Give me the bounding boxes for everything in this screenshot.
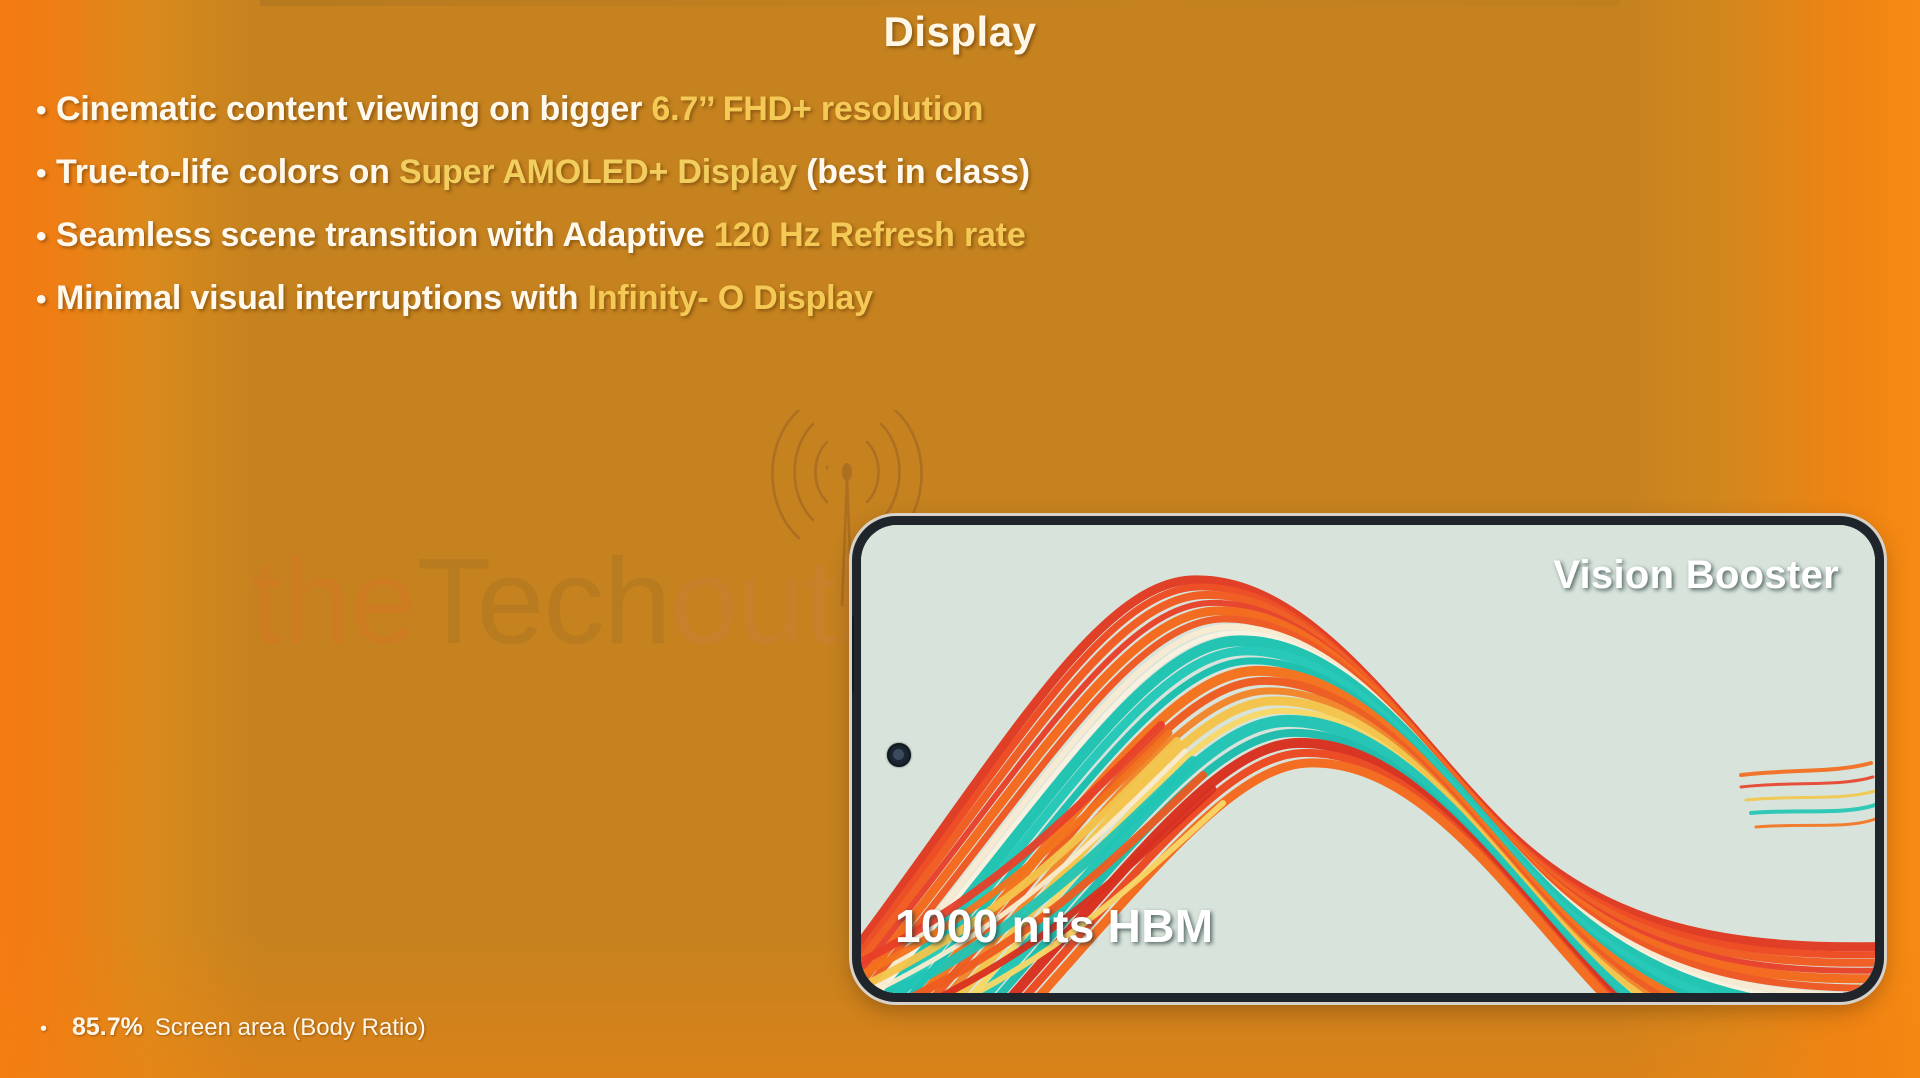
footnote-label: Screen area (Body Ratio) <box>155 1014 426 1042</box>
page-title: Display <box>0 8 1920 56</box>
bullet-highlight-text: 6.7’’ FHD+ resolution <box>651 90 983 128</box>
screen-body-ratio-note: • 85.7% Screen area (Body Ratio) <box>40 1013 426 1042</box>
bullet-lead-text: Minimal visual interruptions with <box>56 279 588 317</box>
label-vision-booster: Vision Booster <box>1553 553 1839 598</box>
bullet-highlight-text: Super AMOLED+ Display <box>399 153 797 191</box>
bullet-marker: • <box>36 222 56 252</box>
bullet-item-panel-type: • True-to-life colors on Super AMOLED+ D… <box>36 155 1336 189</box>
bullet-item-refresh-rate: • Seamless scene transition with Adaptiv… <box>36 218 1336 252</box>
bullet-lead-text: Seamless scene transition with Adaptive <box>56 216 714 254</box>
bullet-marker: • <box>36 96 56 126</box>
bullet-list: • Cinematic content viewing on bigger 6.… <box>36 92 1336 344</box>
bullet-marker: • <box>36 159 56 189</box>
bullet-tail-text: (best in class) <box>797 153 1030 191</box>
bullet-lead-text: True-to-life colors on <box>56 153 399 191</box>
phone-mockup: Vision Booster 1000 nits HBM <box>852 516 1884 1002</box>
bullet-highlight-text: Infinity- O Display <box>588 279 873 317</box>
bullet-item-display-size: • Cinematic content viewing on bigger 6.… <box>36 92 1336 126</box>
watermark-word-tech: Tech <box>417 533 671 669</box>
watermark-word-the: the <box>250 533 417 669</box>
bullet-marker: • <box>36 285 56 315</box>
slide-canvas: theTechoutlook Display • Cinematic conte… <box>0 0 1920 1078</box>
front-camera-punch-hole <box>887 743 911 767</box>
bullet-lead-text: Cinematic content viewing on bigger <box>56 90 651 128</box>
phone-screen: Vision Booster 1000 nits HBM <box>861 525 1875 993</box>
footnote-marker: • <box>40 1018 72 1041</box>
bullet-item-infinity-o: • Minimal visual interruptions with Infi… <box>36 281 1336 315</box>
footnote-value: 85.7% <box>72 1013 143 1042</box>
top-edge-band <box>0 0 1920 6</box>
phone-side-button[interactable] <box>852 616 854 694</box>
label-nits-hbm: 1000 nits HBM <box>895 899 1213 953</box>
bullet-highlight-text: 120 Hz Refresh rate <box>714 216 1026 254</box>
